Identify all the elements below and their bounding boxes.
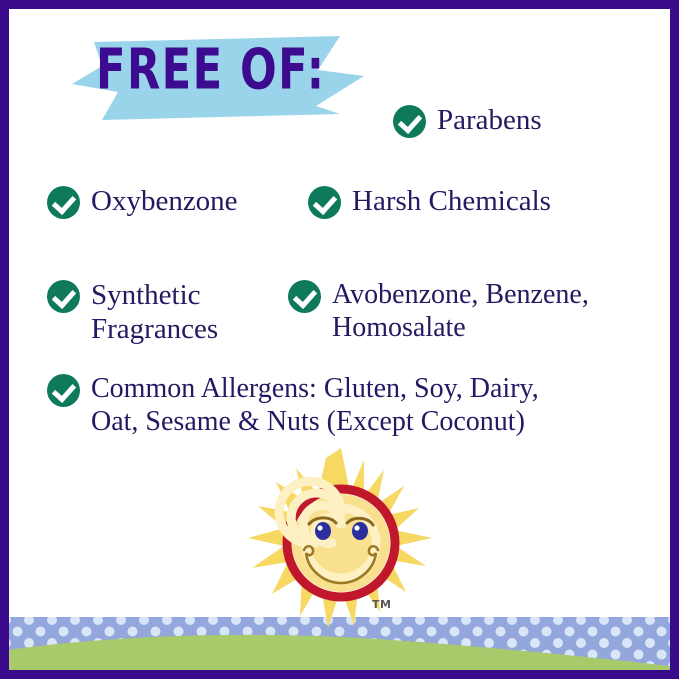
- smiling-sun-logo: [246, 446, 436, 636]
- free-of-item-parabens: Parabens: [393, 103, 542, 138]
- product-infographic: TM FREE OF: Parabens Oxybenzone Harsh Ch…: [0, 0, 679, 679]
- free-of-item-common-allergens: Common Allergens: Gluten, Soy, Dairy, Oa…: [47, 372, 539, 438]
- free-of-item-label: Oxybenzone: [91, 184, 238, 218]
- free-of-item-label: Avobenzone, Benzene, Homosalate: [332, 278, 589, 344]
- banner-heading: FREE OF:: [96, 41, 325, 97]
- free-of-item-avobenzone: Avobenzone, Benzene, Homosalate: [288, 278, 589, 344]
- check-circle-icon: [47, 374, 80, 407]
- free-of-item-label: Synthetic Fragrances: [91, 278, 218, 346]
- check-circle-icon: [393, 105, 426, 138]
- trademark-mark: TM: [372, 598, 391, 611]
- free-of-item-label: Harsh Chemicals: [352, 184, 551, 218]
- check-circle-icon: [47, 280, 80, 313]
- free-of-item-harsh-chemicals: Harsh Chemicals: [308, 184, 551, 219]
- check-circle-icon: [47, 186, 80, 219]
- check-circle-icon: [288, 280, 321, 313]
- free-of-item-label: Parabens: [437, 103, 542, 137]
- free-of-item-synthetic-fragrances: Synthetic Fragrances: [47, 278, 218, 346]
- check-circle-icon: [308, 186, 341, 219]
- free-of-item-label: Common Allergens: Gluten, Soy, Dairy, Oa…: [91, 372, 539, 438]
- free-of-item-oxybenzone: Oxybenzone: [47, 184, 238, 219]
